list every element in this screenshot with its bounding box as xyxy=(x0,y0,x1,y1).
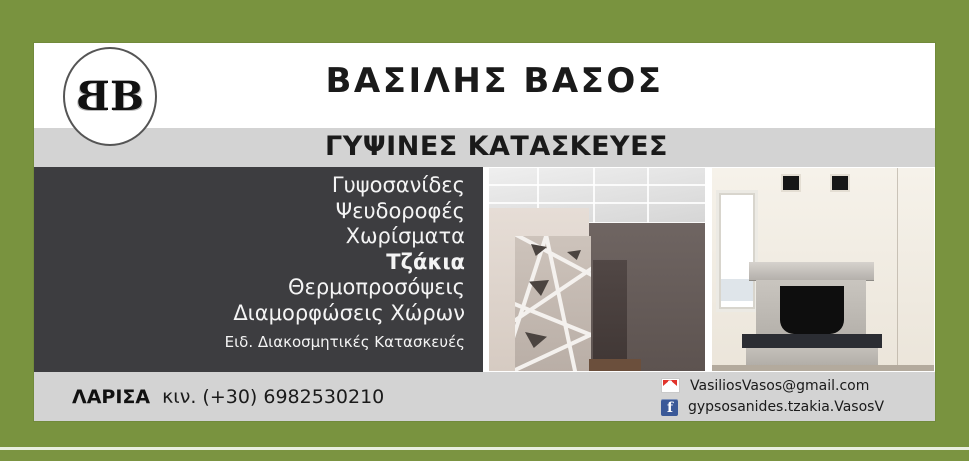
service-item: Διαμορφώσεις Χώρων xyxy=(34,301,465,327)
email-row[interactable]: VasiliosVasos@gmail.com xyxy=(661,378,869,394)
doorway xyxy=(593,260,627,372)
fireplace-mantel xyxy=(749,262,874,280)
firebox-opening xyxy=(780,286,844,334)
subtitle-band: ΓΥΨΙΝΕΣ ΚΑΤΑΣΚΕΥΕΣ xyxy=(34,128,935,167)
business-card-banner: ΒΑΣΙΛΗΣ ΒΑΣΟΣ BB ΓΥΨΙΝΕΣ ΚΑΤΑΣΚΕΥΕΣ Γυψο… xyxy=(0,0,969,461)
fireplace-photo xyxy=(711,167,935,372)
monogram-left-letter: B xyxy=(79,77,110,117)
decorative-wall-pattern xyxy=(515,236,591,372)
phone-number[interactable]: κιν. (+30) 6982530210 xyxy=(162,386,384,408)
facebook-icon: f xyxy=(661,399,678,416)
frame-bottom-strip xyxy=(0,450,969,461)
bb-monogram-icon: BB xyxy=(79,77,141,117)
facebook-handle[interactable]: gypsosanides.tzakia.VasosV xyxy=(688,399,884,415)
service-item-highlighted: Τζάκια xyxy=(34,250,465,276)
interior-room-photo xyxy=(488,167,706,372)
service-item: Χωρίσματα xyxy=(34,224,465,250)
company-subtitle: ΓΥΨΙΝΕΣ ΚΑΤΑΣΚΕΥΕΣ xyxy=(34,131,935,162)
service-item: Θερμοπροσόψεις xyxy=(34,275,465,301)
facebook-row[interactable]: f gypsosanides.tzakia.VasosV xyxy=(661,399,884,416)
email-address[interactable]: VasiliosVasos@gmail.com xyxy=(690,378,869,394)
company-logo: BB xyxy=(63,47,157,146)
service-item: Γυψοσανίδες xyxy=(34,173,465,199)
service-item: Ψευδοροφές xyxy=(34,199,465,225)
company-name: ΒΑΣΙΛΗΣ ΒΑΣΟΣ xyxy=(34,61,935,101)
facebook-glyph: f xyxy=(661,399,678,416)
card-footer: ΛΑΡΙΣΑ κιν. (+30) 6982530210 VasiliosVas… xyxy=(34,372,935,421)
services-panel: Γυψοσανίδες Ψευδοροφές Χωρίσματα Τζάκια … xyxy=(34,167,483,372)
footer-location-block: ΛΑΡΙΣΑ κιν. (+30) 6982530210 xyxy=(34,386,384,408)
floor-region xyxy=(589,359,641,371)
vent-grille-icon xyxy=(781,174,801,192)
fireplace-hearth xyxy=(742,334,882,348)
footer-contact-block: VasiliosVasos@gmail.com f gypsosanides.t… xyxy=(661,378,935,416)
wall-corner xyxy=(897,168,898,371)
window xyxy=(716,190,758,312)
business-card: ΒΑΣΙΛΗΣ ΒΑΣΟΣ BB ΓΥΨΙΝΕΣ ΚΑΤΑΣΚΕΥΕΣ Γυψο… xyxy=(34,43,935,421)
floor-region xyxy=(712,365,934,371)
city-label: ΛΑΡΙΣΑ xyxy=(72,386,150,408)
service-item-note: Ειδ. Διακοσμητικές Κατασκευές xyxy=(34,330,465,354)
monogram-right-letter: B xyxy=(110,73,141,120)
card-body: Γυψοσανίδες Ψευδοροφές Χωρίσματα Τζάκια … xyxy=(34,167,935,372)
vent-grille-icon xyxy=(830,174,850,192)
card-header: ΒΑΣΙΛΗΣ ΒΑΣΟΣ xyxy=(34,43,935,128)
gmail-icon xyxy=(661,378,680,393)
